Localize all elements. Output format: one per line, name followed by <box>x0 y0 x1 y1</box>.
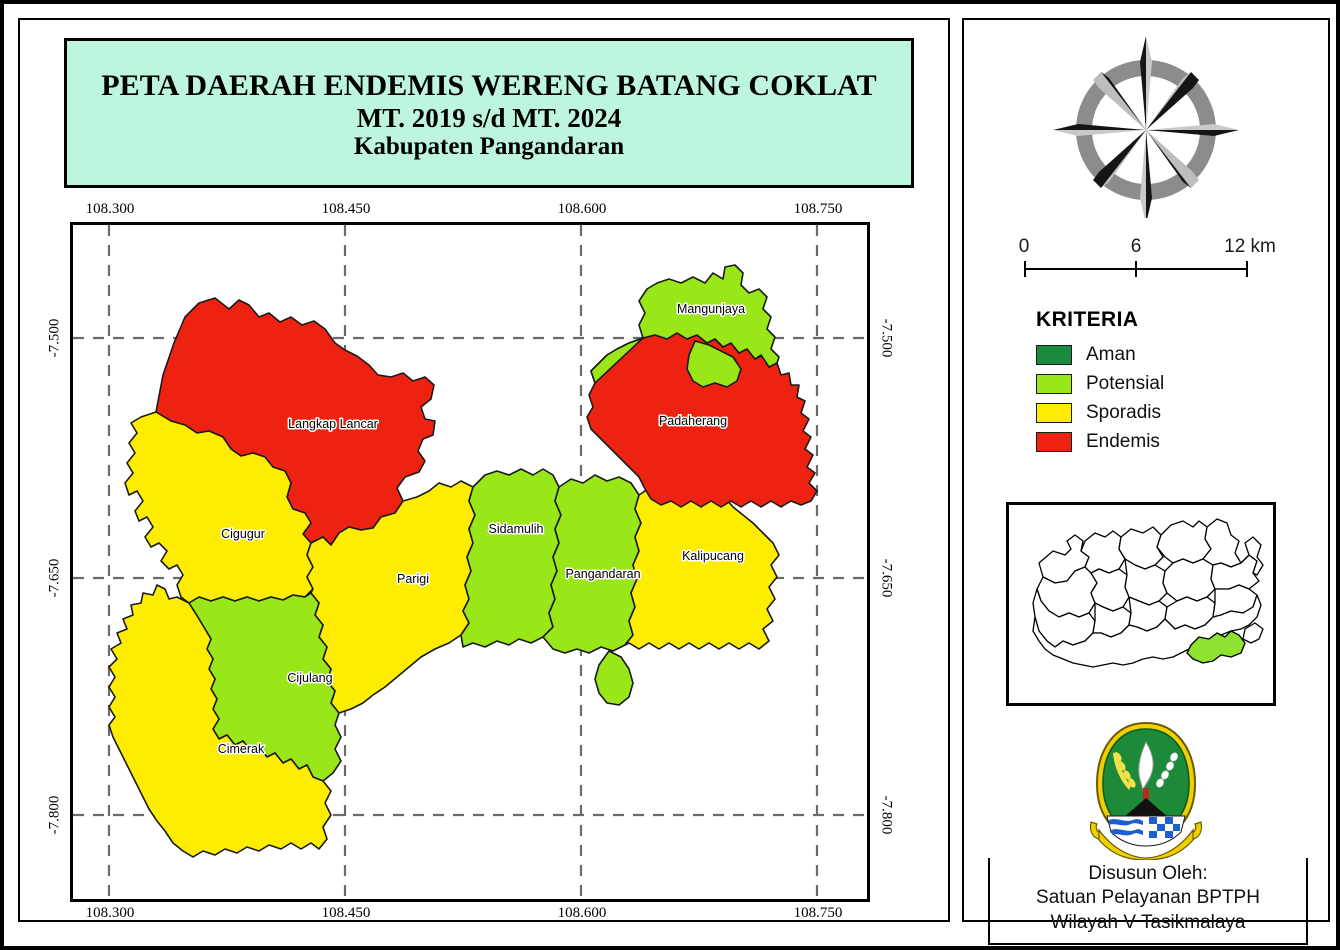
district-label: Sidamulih <box>489 522 544 536</box>
y-axis-right: -7.500 -7.650 -7.800 <box>875 222 897 902</box>
scale-tick <box>1135 261 1137 277</box>
legend-label: Endemis <box>1086 431 1160 453</box>
district-label: Cimerak <box>218 742 265 756</box>
compass-rose-icon <box>1053 32 1239 218</box>
legend-swatch-aman <box>1036 345 1072 365</box>
scale-label: 12 km <box>1224 236 1276 258</box>
side-panel: 0 6 12 km KRITERIA Aman Potensial <box>962 18 1330 922</box>
title-line-2: MT. 2019 s/d MT. 2024 <box>357 103 622 133</box>
legend-swatch-sporadis <box>1036 403 1072 423</box>
y-tick-label: -7.800 <box>47 796 64 835</box>
legend-swatch-potensial <box>1036 374 1072 394</box>
credit-box: Disusun Oleh: Satuan Pelayanan BPTPH Wil… <box>988 858 1308 945</box>
legend-label: Aman <box>1086 344 1136 366</box>
x-tick-label: 108.750 <box>794 905 843 922</box>
district-map[interactable]: Langkap Lancar Cigugur Parigi Cijulang C… <box>73 225 867 899</box>
x-tick-label: 108.450 <box>322 201 371 218</box>
legend-label: Sporadis <box>1086 402 1161 424</box>
district-sidamulih[interactable] <box>461 469 561 647</box>
map-poster: PETA DAERAH ENDEMIS WERENG BATANG COKLAT… <box>0 0 1340 950</box>
x-tick-label: 108.600 <box>558 905 607 922</box>
district-label: Parigi <box>397 572 429 586</box>
x-axis-bottom: 108.300 108.450 108.600 108.750 <box>70 905 870 923</box>
x-tick-label: 108.300 <box>86 201 135 218</box>
west-java-emblem-icon <box>1085 718 1207 860</box>
y-tick-label: -7.650 <box>878 559 895 598</box>
x-tick-label: 108.300 <box>86 905 135 922</box>
title-line-1: PETA DAERAH ENDEMIS WERENG BATANG COKLAT <box>101 69 877 103</box>
y-tick-label: -7.800 <box>878 796 895 835</box>
scale-label: 0 <box>1019 236 1030 258</box>
y-tick-label: -7.650 <box>47 559 64 598</box>
x-axis-top: 108.300 108.450 108.600 108.750 <box>70 201 870 219</box>
district-label: Cigugur <box>221 527 265 541</box>
district-label: Mangunjaya <box>677 302 745 316</box>
credit-line-2: Satuan Pelayanan BPTPH <box>996 886 1300 910</box>
district-label: Padaherang <box>659 414 727 428</box>
legend-item-aman[interactable]: Aman <box>1036 344 1164 366</box>
x-tick-label: 108.450 <box>322 905 371 922</box>
credit-line-3: Wilayah V Tasikmalaya <box>996 911 1300 935</box>
y-tick-label: -7.500 <box>47 319 64 358</box>
map-frame: Langkap Lancar Cigugur Parigi Cijulang C… <box>70 222 870 902</box>
x-tick-label: 108.750 <box>794 201 843 218</box>
legend-item-potensial[interactable]: Potensial <box>1036 373 1164 395</box>
west-java-outline <box>1009 505 1273 703</box>
scale-tick <box>1024 261 1026 277</box>
map-panel: PETA DAERAH ENDEMIS WERENG BATANG COKLAT… <box>18 18 950 922</box>
legend-label: Potensial <box>1086 373 1164 395</box>
district-label: Langkap Lancar <box>288 417 378 431</box>
scale-bar: 0 6 12 km <box>1018 232 1278 278</box>
title-line-3: Kabupaten Pangandaran <box>354 133 624 161</box>
district-label: Kalipucang <box>682 549 744 563</box>
legend-item-sporadis[interactable]: Sporadis <box>1036 402 1164 424</box>
scale-label: 6 <box>1131 236 1142 258</box>
legend-swatch-endemis <box>1036 432 1072 452</box>
scale-tick <box>1246 261 1248 277</box>
map-title-box: PETA DAERAH ENDEMIS WERENG BATANG COKLAT… <box>64 38 914 188</box>
district-label: Cijulang <box>287 671 332 685</box>
legend-title: KRITERIA <box>1036 308 1164 332</box>
y-tick-label: -7.500 <box>878 319 895 358</box>
y-axis-left: -7.500 -7.650 -7.800 <box>44 222 66 902</box>
credit-line-1: Disusun Oleh: <box>996 862 1300 886</box>
legend-item-endemis[interactable]: Endemis <box>1036 431 1164 453</box>
district-kalipucang[interactable] <box>625 483 779 649</box>
x-tick-label: 108.600 <box>558 201 607 218</box>
district-label: Pangandaran <box>565 567 640 581</box>
legend: KRITERIA Aman Potensial Sporadis Endemis <box>1036 308 1164 460</box>
inset-locator-map[interactable] <box>1006 502 1276 706</box>
